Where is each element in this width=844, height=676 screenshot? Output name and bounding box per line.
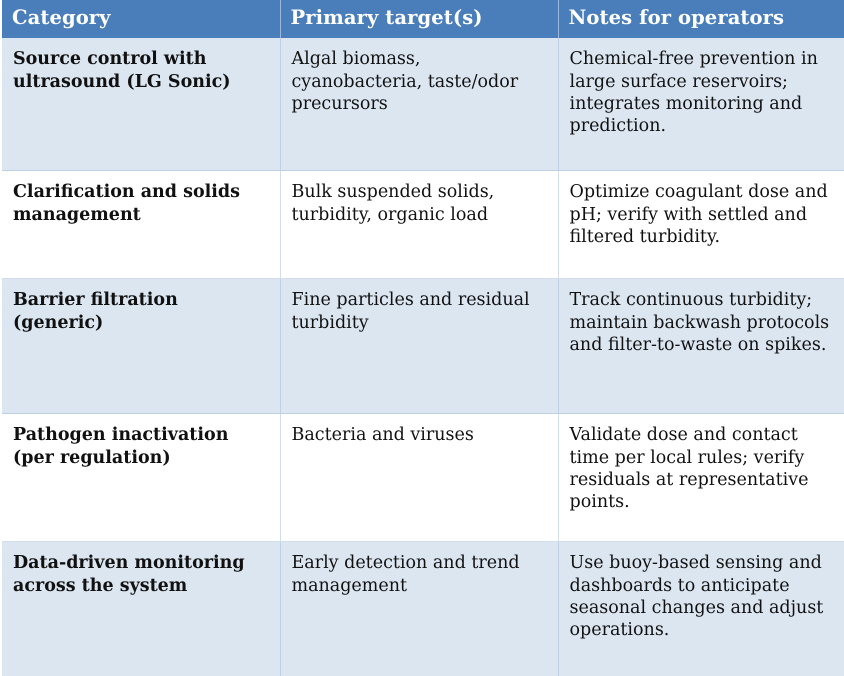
header-row: Category Primary target(s) Notes for ope…: [2, 0, 844, 38]
table-row: Pathogen inactivation (per regulation) B…: [2, 414, 844, 542]
table-body: Source control with ultrasound (LG Sonic…: [2, 38, 844, 676]
cell-primary-target: Early detection and trend management: [280, 542, 558, 676]
cell-primary-target: Bacteria and viruses: [280, 414, 558, 542]
treatment-options-table: Category Primary target(s) Notes for ope…: [2, 0, 844, 676]
cell-category: Data-driven monitoring across the system: [2, 542, 280, 676]
column-header-category[interactable]: Category: [2, 0, 280, 38]
cell-notes: Optimize coagulant dose and pH; verify w…: [558, 171, 844, 279]
cell-category: Clarification and solids management: [2, 171, 280, 279]
column-header-primary-target[interactable]: Primary target(s): [280, 0, 558, 38]
table-row: Data-driven monitoring across the system…: [2, 542, 844, 676]
table-row: Source control with ultrasound (LG Sonic…: [2, 38, 844, 171]
column-header-notes-for-operators[interactable]: Notes for operators: [558, 0, 844, 38]
cell-category: Barrier filtration (generic): [2, 279, 280, 414]
table-container: Category Primary target(s) Notes for ope…: [0, 0, 844, 569]
cell-category: Source control with ultrasound (LG Sonic…: [2, 38, 280, 171]
cell-notes: Use buoy-based sensing and dashboards to…: [558, 542, 844, 676]
cell-notes: Track continuous turbidity; maintain bac…: [558, 279, 844, 414]
cell-notes: Chemical-free prevention in large surfac…: [558, 38, 844, 171]
cell-primary-target: Algal biomass, cyanobacteria, taste/odor…: [280, 38, 558, 171]
cell-notes: Validate dose and contact time per local…: [558, 414, 844, 542]
table-header: Category Primary target(s) Notes for ope…: [2, 0, 844, 38]
cell-category: Pathogen inactivation (per regulation): [2, 414, 280, 542]
cell-primary-target: Bulk suspended solids, turbidity, organi…: [280, 171, 558, 279]
cell-primary-target: Fine particles and residual turbidity: [280, 279, 558, 414]
table-row: Barrier filtration (generic) Fine partic…: [2, 279, 844, 414]
table-row: Clarification and solids management Bulk…: [2, 171, 844, 279]
